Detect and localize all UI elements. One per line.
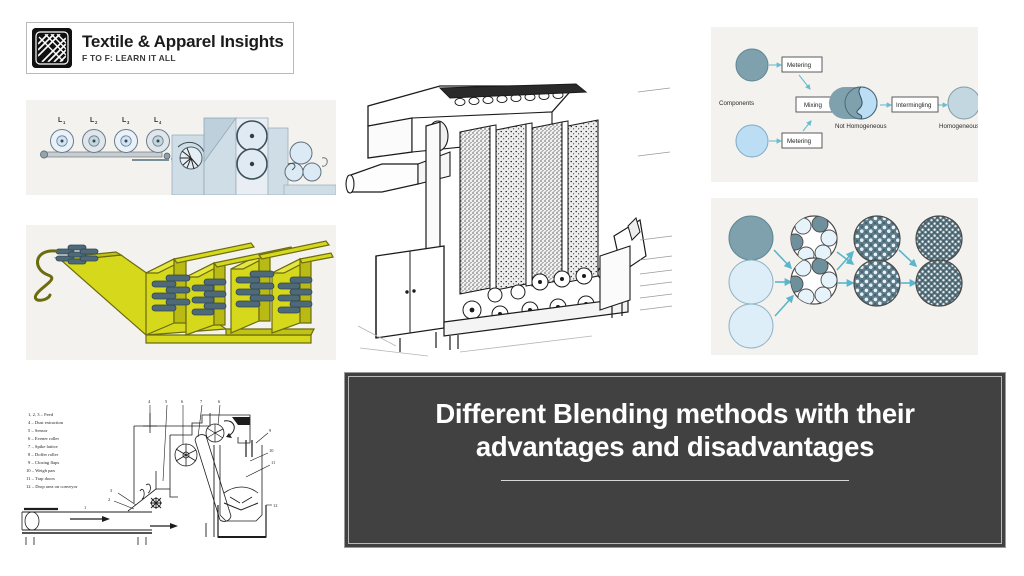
homogeneous-circle <box>948 87 978 119</box>
woven-textile-logo-icon <box>32 28 72 68</box>
slide-canvas: Textile & Apparel Insights F TO F: LEARN… <box>0 0 1024 576</box>
callout-11: 11 <box>271 460 275 465</box>
step-label-intermingling: Intermingling <box>896 102 932 109</box>
legend-item: 8 – Doffer roller <box>28 452 59 457</box>
medium-blend-circle-bottom <box>854 260 900 306</box>
legend-item: 12 – Drop area on conveyor <box>26 484 78 489</box>
medium-blend-circle-top <box>854 216 900 262</box>
dark-component-circle <box>736 49 768 81</box>
callout-1: 1 <box>84 505 86 510</box>
title-card: Different Blending methods with their ad… <box>344 372 1006 548</box>
source-circle-light-2 <box>729 304 773 348</box>
state-label-homogeneous: Homogeneous <box>939 123 978 130</box>
brand-header: Textile & Apparel Insights F TO F: LEARN… <box>26 22 294 74</box>
step-label-mixing: Mixing <box>804 102 822 109</box>
source-circle-dark <box>729 216 773 260</box>
brand-text-block: Textile & Apparel Insights F TO F: LEARN… <box>82 32 284 64</box>
legend-item: 9 – Closing flaps <box>28 460 59 465</box>
panel-fibre-blend-stages <box>711 198 978 355</box>
title-divider <box>501 480 849 481</box>
legend-item: 6 – Evener roller <box>28 436 59 441</box>
source-circle-light-1 <box>729 260 773 304</box>
components-label: Components <box>719 100 754 107</box>
fine-blend-circle-top <box>916 216 962 262</box>
legend-item: 10 – Weigh pan <box>26 468 55 473</box>
panel-blending-machine-photo <box>340 60 680 360</box>
legend-item: 4 – Dust extraction <box>28 420 64 425</box>
legend-item: 11 – Trap doors <box>26 476 55 481</box>
callout-2: 2 <box>108 497 110 502</box>
panel-hopper-feeder-diagram: 1, 2, 3 – Feed 4 – Dust extraction 5 – S… <box>10 385 310 545</box>
step-label-metering-2: Metering <box>787 138 812 145</box>
callout-12: 12 <box>273 503 277 508</box>
legend-item: 7 – Spike lattice <box>28 444 58 449</box>
legend-item: 5 – Sensor <box>28 428 48 433</box>
brand-tagline: F TO F: LEARN IT ALL <box>82 52 284 64</box>
not-homogeneous-circle <box>829 87 877 119</box>
brand-name: Textile & Apparel Insights <box>82 32 284 51</box>
title-card-inner: Different Blending methods with their ad… <box>348 376 1002 544</box>
state-label-not-homogeneous: Not Homogeneous <box>835 123 887 130</box>
fine-blend-circle-final <box>916 260 962 306</box>
panel-draw-frame-illustration: L1 L2 L3 L4 <box>26 100 336 195</box>
page-title: Different Blending methods with their ad… <box>395 397 955 463</box>
panel-duct-blending-illustration <box>26 225 336 360</box>
step-label-metering-1: Metering <box>787 62 812 69</box>
panel-mixing-flow-diagram: Components Metering <box>711 27 978 182</box>
light-component-circle <box>736 125 768 157</box>
